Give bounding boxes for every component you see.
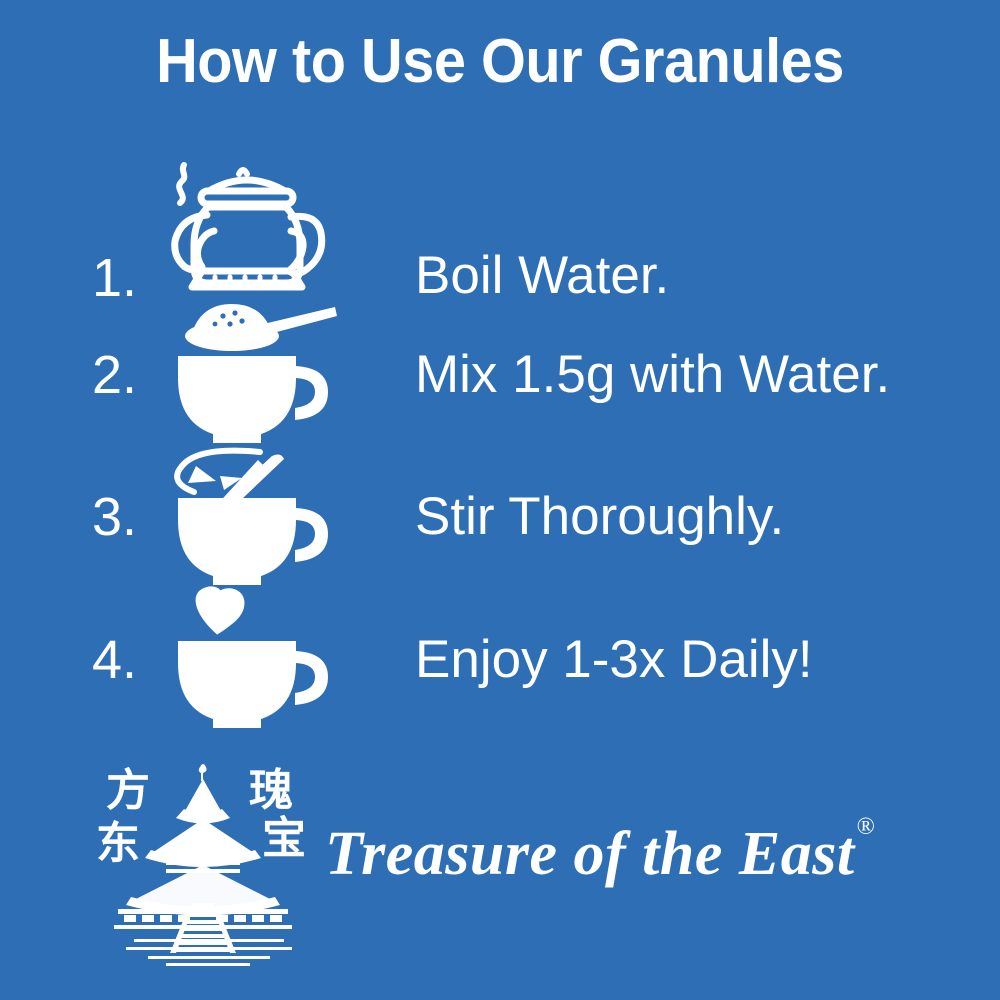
- step-number-3: 3.: [92, 442, 162, 592]
- step-text-4: Enjoy 1-3x Daily!: [415, 585, 813, 735]
- cup-with-stirring-arrow-icon: [160, 442, 335, 592]
- instruction-panel: How to Use Our Granules 1.: [0, 0, 1000, 1000]
- step-text-3: Stir Thoroughly.: [415, 442, 784, 592]
- step-row-2: 2.: [0, 300, 1000, 450]
- temple-of-heaven-logo: 方 瑰 东 宝: [88, 753, 318, 968]
- page-title: How to Use Our Granules: [35, 26, 965, 98]
- step-number-4: 4.: [92, 585, 162, 735]
- logo-char-bottom-right: 宝: [262, 813, 306, 864]
- logo-char-top-left: 方: [106, 765, 150, 816]
- registered-trademark-icon: ®: [857, 814, 876, 840]
- logo-char-top-right: 瑰: [249, 765, 293, 816]
- cup-with-heart-icon: [160, 585, 335, 735]
- step-row-3: 3. Stir Thoroughly.: [0, 442, 1000, 592]
- step-row-1: 1.: [0, 155, 1000, 305]
- teapot-with-steam-icon: [160, 155, 335, 305]
- cup-with-spoon-of-granules-icon: [160, 300, 335, 450]
- logo-char-bottom-left: 东: [96, 818, 140, 869]
- step-row-4: 4. Enjoy 1-3x Daily!: [0, 585, 1000, 735]
- step-number-2: 2.: [92, 300, 162, 450]
- brand-footer: 方 瑰 东 宝: [0, 745, 1000, 990]
- brand-name: Treasure of the East: [325, 820, 855, 888]
- step-text-2: Mix 1.5g with Water.: [415, 300, 890, 450]
- brand-wordmark: Treasure of the East®: [325, 823, 873, 885]
